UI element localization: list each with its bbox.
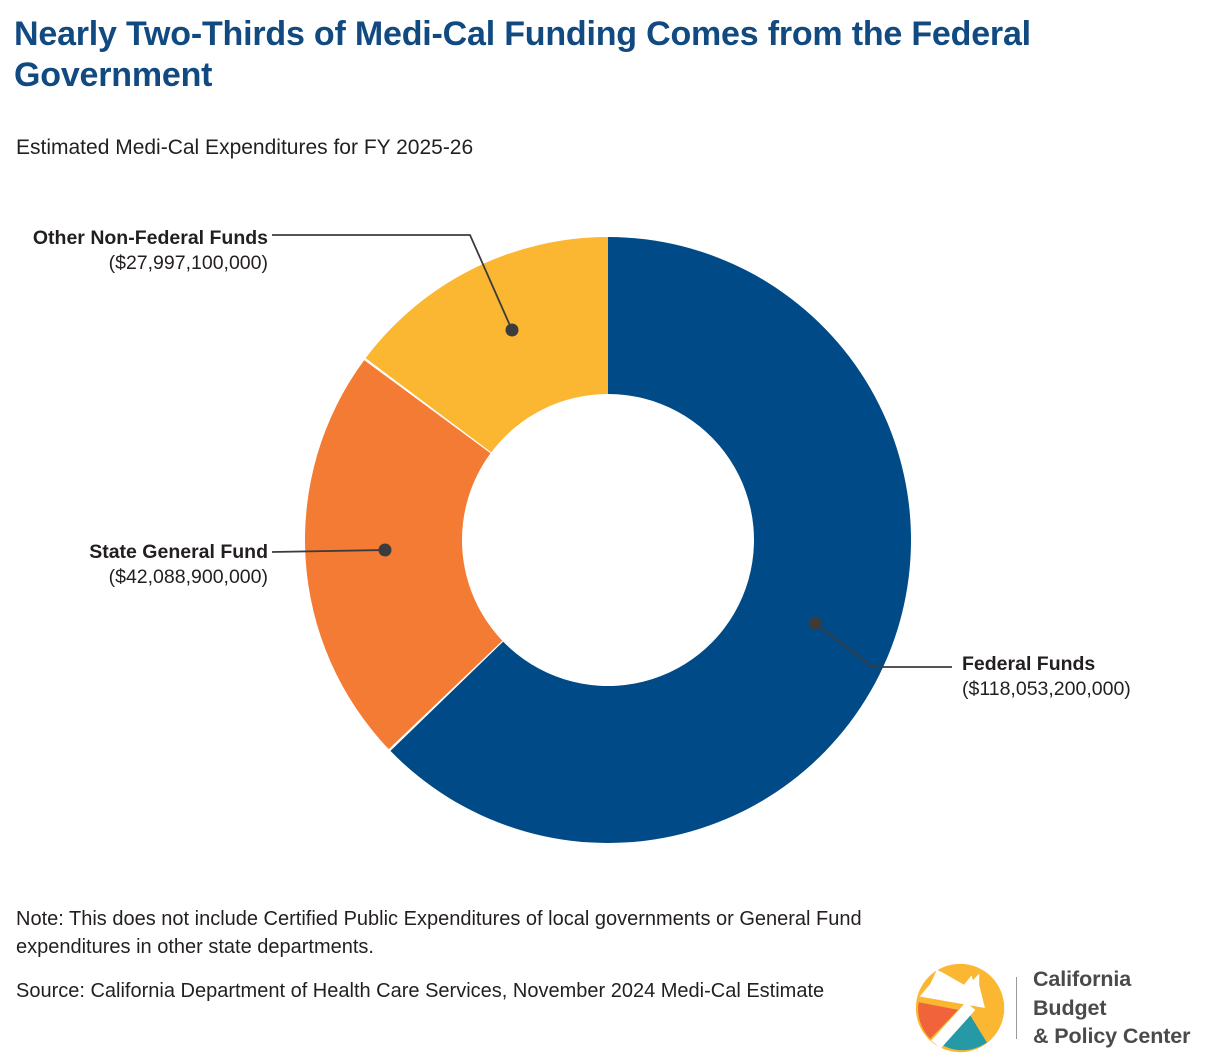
callout-sgf-value: ($42,088,900,000) <box>20 565 268 590</box>
logo-wordmark: California Budget & Policy Center <box>1033 965 1208 1050</box>
logo-line-2: & Policy Center <box>1033 1022 1208 1050</box>
chart-note: Note: This does not include Certified Pu… <box>16 906 896 961</box>
callout-sgf-label: State General Fund <box>20 540 268 565</box>
cbpc-logo-icon <box>912 960 1008 1056</box>
chart-source: Source: California Department of Health … <box>16 978 896 1006</box>
organization-logo: California Budget & Policy Center <box>912 958 1208 1058</box>
callout-other-label: Other Non-Federal Funds <box>20 226 268 251</box>
donut-chart-svg <box>0 180 1220 880</box>
logo-line-1: California Budget <box>1033 965 1208 1022</box>
logo-divider <box>1016 977 1017 1039</box>
callout-state-general-fund: State General Fund ($42,088,900,000) <box>20 540 268 591</box>
leader-dot-federal <box>809 617 822 630</box>
leader-dot-state-general-fund <box>379 544 392 557</box>
donut-chart <box>0 180 1220 880</box>
page-title: Nearly Two-Thirds of Medi-Cal Funding Co… <box>14 14 1164 97</box>
chart-page: Nearly Two-Thirds of Medi-Cal Funding Co… <box>0 0 1220 1064</box>
callout-federal-label: Federal Funds <box>962 652 1214 677</box>
footnotes: Note: This does not include Certified Pu… <box>16 906 896 1006</box>
callout-other-value: ($27,997,100,000) <box>20 251 268 276</box>
leader-dot-other <box>506 324 519 337</box>
chart-subtitle: Estimated Medi-Cal Expenditures for FY 2… <box>16 136 473 160</box>
callout-other-non-federal-funds: Other Non-Federal Funds ($27,997,100,000… <box>20 226 268 277</box>
donut-slices <box>305 237 911 843</box>
callout-federal-funds: Federal Funds ($118,053,200,000) <box>962 652 1214 703</box>
callout-federal-value: ($118,053,200,000) <box>962 677 1214 702</box>
